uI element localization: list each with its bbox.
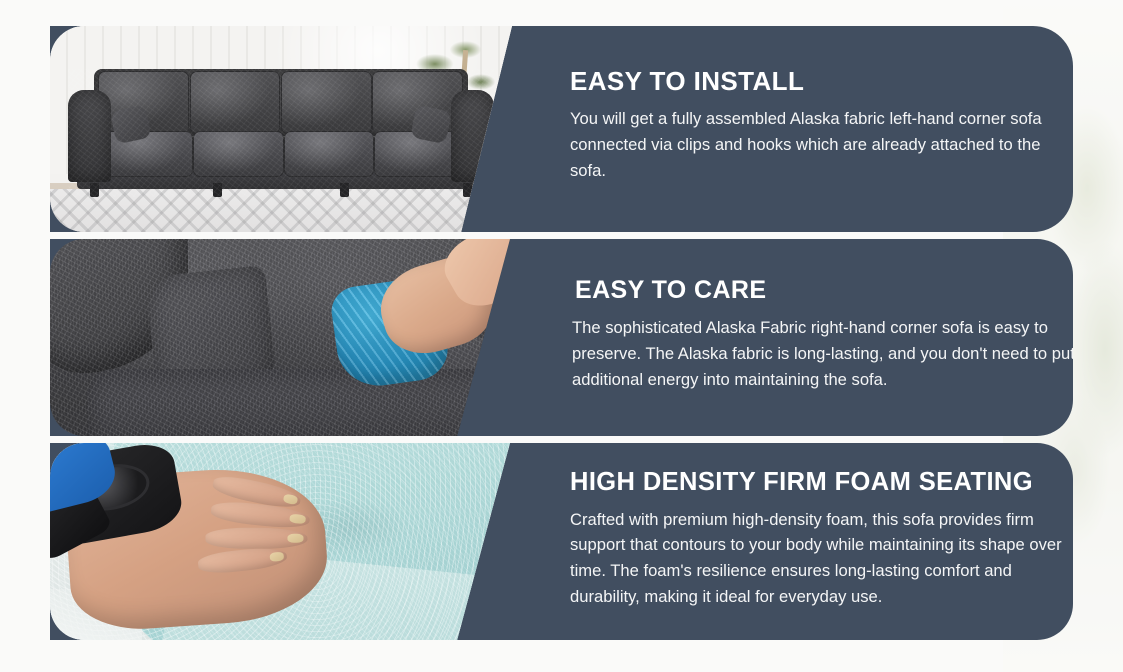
scene-sofa-cleaning: [50, 239, 510, 436]
infographic-page: EASY TO INSTALL You will get a fully ass…: [0, 0, 1123, 672]
scene-foam-press: [50, 443, 510, 640]
scene-living-room: [50, 26, 512, 232]
finger: [197, 545, 288, 575]
feature-image-cleaning-sofa: [50, 239, 510, 436]
sofa-leg: [340, 183, 349, 197]
fingernail: [282, 493, 298, 505]
feature-image-sofa-in-room: [50, 26, 512, 232]
sofa-seat-cushion: [284, 131, 375, 177]
sofa-leg: [90, 183, 99, 197]
sofa-illustration: [68, 69, 493, 197]
fingernail: [289, 513, 306, 524]
feature-description: The sophisticated Alaska Fabric right-ha…: [572, 315, 1073, 393]
fingernail: [269, 551, 284, 562]
sofa-left-arm: [68, 90, 111, 182]
feature-heading: EASY TO CARE: [575, 277, 1073, 303]
feature-text-block: EASY TO INSTALL You will get a fully ass…: [570, 26, 1070, 232]
feature-card-easy-to-care: EASY TO CARE The sophisticated Alaska Fa…: [50, 239, 1073, 436]
feature-card-high-density-foam: HIGH DENSITY FIRM FOAM SEATING Crafted w…: [50, 443, 1073, 640]
finger: [206, 527, 308, 548]
sofa-leg: [213, 183, 222, 197]
fingers: [167, 477, 333, 583]
feature-image-foam-test: [50, 443, 510, 640]
feature-image-mask: [50, 26, 512, 232]
feature-description: You will get a fully assembled Alaska fa…: [570, 106, 1070, 184]
feature-image-mask: [50, 443, 510, 640]
fingernail: [288, 533, 304, 542]
sofa-back-cushion: [281, 71, 372, 135]
feature-text-block: EASY TO CARE The sophisticated Alaska Fa…: [572, 239, 1073, 436]
sofa-seat-cushion: [193, 131, 284, 177]
feature-text-block: HIGH DENSITY FIRM FOAM SEATING Crafted w…: [570, 443, 1073, 640]
feature-image-mask: [50, 239, 510, 436]
feature-heading: HIGH DENSITY FIRM FOAM SEATING: [570, 469, 1073, 496]
sofa-back-cushion: [190, 71, 281, 135]
feature-description: Crafted with premium high-density foam, …: [570, 507, 1073, 609]
feature-card-stack: EASY TO INSTALL You will get a fully ass…: [0, 0, 1123, 672]
feature-heading: EASY TO INSTALL: [570, 68, 1070, 95]
feature-card-easy-to-install: EASY TO INSTALL You will get a fully ass…: [50, 26, 1073, 232]
